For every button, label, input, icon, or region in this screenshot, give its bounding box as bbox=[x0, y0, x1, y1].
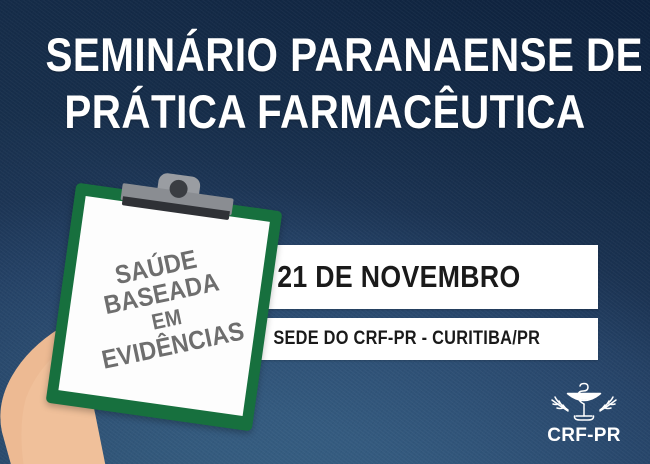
logo-text: CRF-PR bbox=[547, 425, 621, 447]
location-text: SEDE DO CRF-PR - CURITIBA/PR bbox=[232, 328, 540, 350]
event-poster: SEMINÁRIO PARANAENSE DE PRÁTICA FARMACÊU… bbox=[0, 0, 650, 464]
title-line-2: PRÁTICA FARMACÊUTICA bbox=[46, 83, 605, 140]
title-line-1: SEMINÁRIO PARANAENSE DE bbox=[46, 26, 605, 83]
page-title: SEMINÁRIO PARANAENSE DE PRÁTICA FARMACÊU… bbox=[0, 26, 650, 140]
clipboard-paper-text: SAÚDE BASEADA EM EVIDÊNCIAS bbox=[53, 191, 276, 421]
clipboard-illustration: SAÚDE BASEADA EM EVIDÊNCIAS bbox=[46, 183, 283, 432]
clipboard-paper: SAÚDE BASEADA EM EVIDÊNCIAS bbox=[58, 196, 269, 416]
hygieia-bowl-icon bbox=[546, 380, 622, 424]
crf-pr-logo: CRF-PR bbox=[536, 380, 632, 450]
